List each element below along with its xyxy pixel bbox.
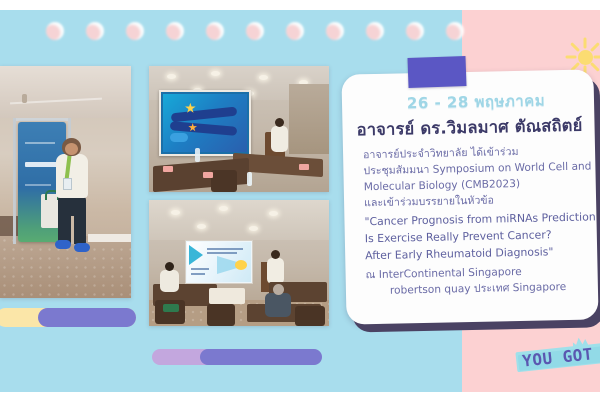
photo-downlight — [219, 206, 228, 211]
photo-lamp — [22, 94, 27, 103]
photo-banner-stand-leg — [13, 118, 16, 244]
dot-icon — [86, 22, 104, 40]
dot-icon — [446, 22, 464, 40]
photo-person-torso — [56, 154, 88, 198]
poster-canvas: 26 - 28 พฤษภาคม อาจารย์ ดร.วิมลมาศ ตัณสถ… — [0, 0, 600, 400]
announcement-card-body: 26 - 28 พฤษภาคม อาจารย์ ดร.วิมลมาศ ตัณสถ… — [341, 69, 598, 324]
photo-audience-presentation — [149, 200, 329, 326]
photo-downlight — [197, 224, 206, 229]
dot-icon — [166, 22, 184, 40]
photo-paper — [203, 172, 213, 178]
photo-paper — [163, 166, 173, 172]
photo-speaker-torso — [271, 126, 288, 152]
photo-downlight — [249, 226, 258, 231]
photo-person-shoe — [55, 240, 71, 249]
event-date: 26 - 28 พฤษภาคม — [370, 88, 582, 116]
photo-slide-content — [187, 242, 251, 282]
photo-lecture-hall-slide — [149, 66, 329, 192]
photo-downlight — [171, 210, 180, 215]
photo-ceiling — [0, 66, 131, 118]
photo-projector-screen — [185, 240, 253, 284]
photo-slide-text-line — [191, 268, 209, 270]
dot-icon — [366, 22, 384, 40]
photo-side-table — [0, 216, 20, 236]
photo-paper — [299, 164, 309, 170]
dot-icon — [326, 22, 344, 40]
photo-projector-screen — [159, 90, 251, 156]
photo-slide-accent — [189, 245, 203, 265]
photo-speaker-head — [271, 250, 280, 259]
photo-attendee-torso — [160, 270, 179, 292]
photo-slide-content — [163, 94, 247, 152]
photo-attendee-head — [273, 284, 284, 295]
photo-person-face — [65, 143, 78, 155]
photo-downlight — [211, 71, 220, 76]
photo-table-cloth — [209, 288, 245, 304]
venue-line-2: robertson quay ประเทศ Singapore — [360, 279, 586, 300]
dot-border — [0, 18, 600, 44]
photo-slide-membrane — [171, 107, 237, 123]
photo-downlight — [269, 211, 278, 216]
photo-speaker-at-registration-banner — [0, 66, 131, 298]
photo-slide-blob — [170, 133, 188, 142]
pill-mid-purple — [200, 349, 322, 365]
photo-green-bag — [163, 304, 179, 312]
photo-water-bottle — [247, 172, 252, 186]
pill-left-purple — [38, 308, 136, 327]
photo-downlight — [259, 75, 268, 80]
photo-downlight — [167, 74, 176, 79]
photo-banner-stand — [13, 118, 71, 121]
photo-person-leg-gap — [71, 216, 74, 244]
washi-tape — [407, 56, 466, 88]
speaker-name: อาจารย์ ดร.วิมลมาศ ตัณสถิตย์ — [356, 113, 582, 144]
photo-attendee-head — [165, 262, 174, 271]
photo-chair — [207, 304, 235, 326]
photo-chair — [295, 306, 325, 326]
photo-slide-text-line — [191, 273, 205, 275]
photo-water-bottle — [195, 148, 200, 162]
banner-footer-text — [25, 184, 51, 186]
dot-icon — [126, 22, 144, 40]
photo-slide-text-line — [207, 248, 243, 250]
photo-ceiling — [149, 200, 329, 240]
photo-chair — [211, 170, 237, 192]
announcement-card: 26 - 28 พฤษภาคม อาจารย์ ดร.วิมลมาศ ตัณสถ… — [341, 69, 598, 324]
photo-speaker-torso — [267, 258, 284, 284]
banner-subtext — [25, 142, 55, 144]
banner-registration-text — [25, 162, 59, 167]
photo-slide-text-line — [207, 252, 237, 254]
photo-person-badge — [63, 178, 72, 190]
photo-speaker-head — [275, 118, 284, 127]
dot-icon — [286, 22, 304, 40]
photo-person-shoe — [74, 243, 90, 252]
dot-icon — [406, 22, 424, 40]
photo-attendee-torso — [265, 293, 291, 317]
photo-baseboard — [88, 234, 131, 242]
sticker-text: YOU GOT THIS — [521, 339, 600, 371]
background-white-top-strip — [0, 0, 600, 10]
background-white-bottom-strip — [0, 392, 600, 400]
dot-icon — [206, 22, 224, 40]
photo-wall-panel — [289, 84, 329, 154]
dot-icon — [246, 22, 264, 40]
photo-slide-highlight — [235, 260, 247, 270]
dot-icon — [46, 22, 64, 40]
